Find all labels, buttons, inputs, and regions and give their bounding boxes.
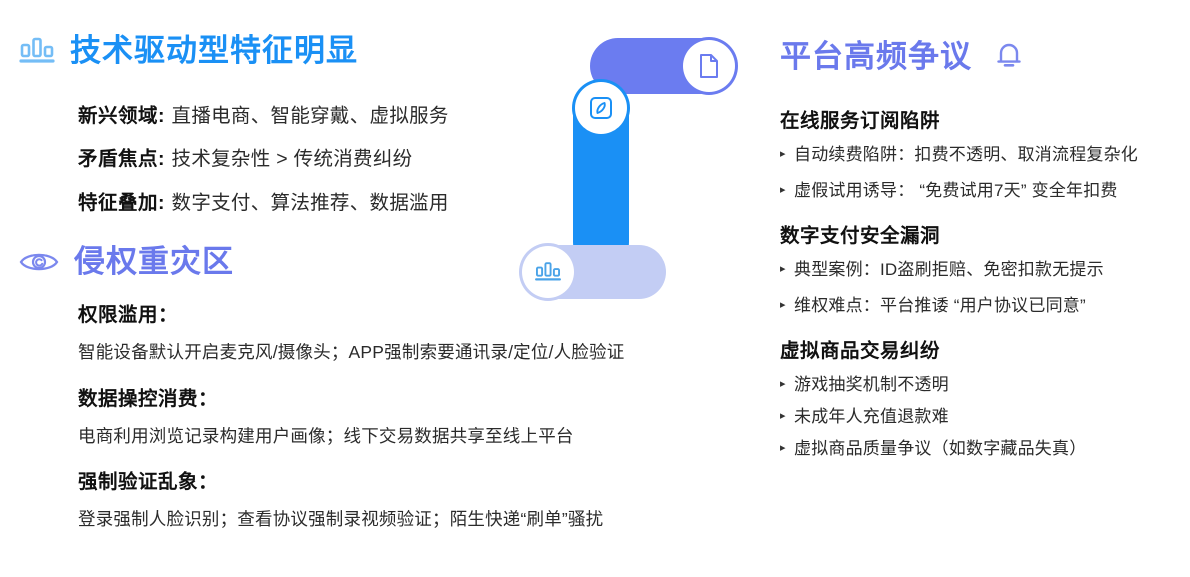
group-title: 在线服务订阅陷阱 xyxy=(780,104,1190,133)
kv-separator: : xyxy=(158,146,165,172)
dispute-group: 在线服务订阅陷阱 ▸ 自动续费陷阱：扣费不透明、取消流程复杂化 ▸ 虚假试用诱导… xyxy=(780,104,1190,203)
section-heading-infringement: 侵权重灾区 xyxy=(18,245,234,279)
kv-value: 数字支付、算法推荐、数据滥用 xyxy=(172,190,449,216)
bullet-icon: ▸ xyxy=(780,180,794,201)
section-heading-platform: 平台高频争议 xyxy=(780,38,1026,77)
block-body: 登录强制人脸识别；查看协议强制录视频验证；陌生快递“刷单”骚扰 xyxy=(78,507,738,532)
block-title: 数据操控消费： xyxy=(78,382,738,411)
edit-icon xyxy=(575,82,627,134)
platform-dispute-groups: 在线服务订阅陷阱 ▸ 自动续费陷阱：扣费不透明、取消流程复杂化 ▸ 虚假试用诱导… xyxy=(780,104,1190,477)
list-item: ▸ 虚拟商品质量争议（如数字藏品失真） xyxy=(780,438,1190,461)
infringement-block: 强制验证乱象： 登录强制人脸识别；查看协议强制录视频验证；陌生快递“刷单”骚扰 xyxy=(78,465,738,532)
document-icon xyxy=(683,40,735,92)
section-title-infringement: 侵权重灾区 xyxy=(74,245,234,279)
bullet-icon: ▸ xyxy=(780,406,794,427)
group-title: 数字支付安全漏洞 xyxy=(780,219,1190,248)
bullet-icon: ▸ xyxy=(780,374,794,395)
bullet-icon: ▸ xyxy=(780,295,794,316)
right-column: 平台高频争议 在线服务订阅陷阱 ▸ 自动续费陷阱：扣费不透明、取消流程复杂化 ▸… xyxy=(772,0,1190,577)
bullet-icon: ▸ xyxy=(780,438,794,459)
list-item-text: 虚拟商品质量争议（如数字藏品失真） xyxy=(794,438,1190,461)
block-body: 电商利用浏览记录构建用户画像；线下交易数据共享至线上平台 xyxy=(78,424,738,449)
list-item-text: 未成年人充值退款难 xyxy=(794,406,1190,429)
list-item: ▸ 游戏抽奖机制不透明 xyxy=(780,374,1190,397)
list-item-text: 虚假试用诱导： “免费试用7天” 变全年扣费 xyxy=(794,180,1190,203)
bell-icon xyxy=(992,38,1026,77)
list-item: ▸ 虚假试用诱导： “免费试用7天” 变全年扣费 xyxy=(780,180,1190,203)
block-title: 强制验证乱象： xyxy=(78,465,738,494)
kv-key: 矛盾焦点 xyxy=(78,146,158,172)
section-title-platform: 平台高频争议 xyxy=(780,40,972,74)
kv-value: 技术复杂性 > 传统消费纠纷 xyxy=(172,146,413,172)
list-item: ▸ 典型案例：ID盗刷拒赔、免密扣款无提示 xyxy=(780,259,1190,282)
list-item-text: 维权难点：平台推诿 “用户协议已同意” xyxy=(794,295,1190,318)
list-item-text: 游戏抽奖机制不透明 xyxy=(794,374,1190,397)
bar-chart-icon xyxy=(522,246,574,298)
infringement-block-list: 权限滥用： 智能设备默认开启麦克风/摄像头；APP强制索要通讯录/定位/人脸验证… xyxy=(78,298,738,549)
list-item: ▸ 自动续费陷阱：扣费不透明、取消流程复杂化 xyxy=(780,144,1190,167)
infringement-block: 数据操控消费： 电商利用浏览记录构建用户画像；线下交易数据共享至线上平台 xyxy=(78,382,738,449)
bullet-icon: ▸ xyxy=(780,259,794,280)
list-item: ▸ 未成年人充值退款难 xyxy=(780,406,1190,429)
kv-value: 直播电商、智能穿戴、虚拟服务 xyxy=(172,103,449,129)
dispute-group: 虚拟商品交易纠纷 ▸ 游戏抽奖机制不透明 ▸ 未成年人充值退款难 ▸ 虚拟商品质… xyxy=(780,334,1190,461)
infringement-block: 权限滥用： 智能设备默认开启麦克风/摄像头；APP强制索要通讯录/定位/人脸验证 xyxy=(78,298,738,365)
kv-separator: : xyxy=(158,190,165,216)
kv-key: 特征叠加 xyxy=(78,190,158,216)
eye-icon xyxy=(18,247,60,277)
list-item-text: 自动续费陷阱：扣费不透明、取消流程复杂化 xyxy=(794,144,1190,167)
bar-chart-icon xyxy=(18,36,56,66)
list-item: ▸ 维权难点：平台推诿 “用户协议已同意” xyxy=(780,295,1190,318)
section-heading-tech: 技术驱动型特征明显 xyxy=(18,34,358,68)
kv-key: 新兴领域 xyxy=(78,103,158,129)
block-body: 智能设备默认开启麦克风/摄像头；APP强制索要通讯录/定位/人脸验证 xyxy=(78,340,738,365)
kv-separator: : xyxy=(158,103,165,129)
block-title: 权限滥用： xyxy=(78,298,738,327)
list-item-text: 典型案例：ID盗刷拒赔、免密扣款无提示 xyxy=(794,259,1190,282)
bullet-icon: ▸ xyxy=(780,144,794,165)
center-decorative-graphic xyxy=(505,30,735,300)
section-title-tech: 技术驱动型特征明显 xyxy=(70,34,358,68)
dispute-group: 数字支付安全漏洞 ▸ 典型案例：ID盗刷拒赔、免密扣款无提示 ▸ 维权难点：平台… xyxy=(780,219,1190,318)
group-title: 虚拟商品交易纠纷 xyxy=(780,334,1190,363)
